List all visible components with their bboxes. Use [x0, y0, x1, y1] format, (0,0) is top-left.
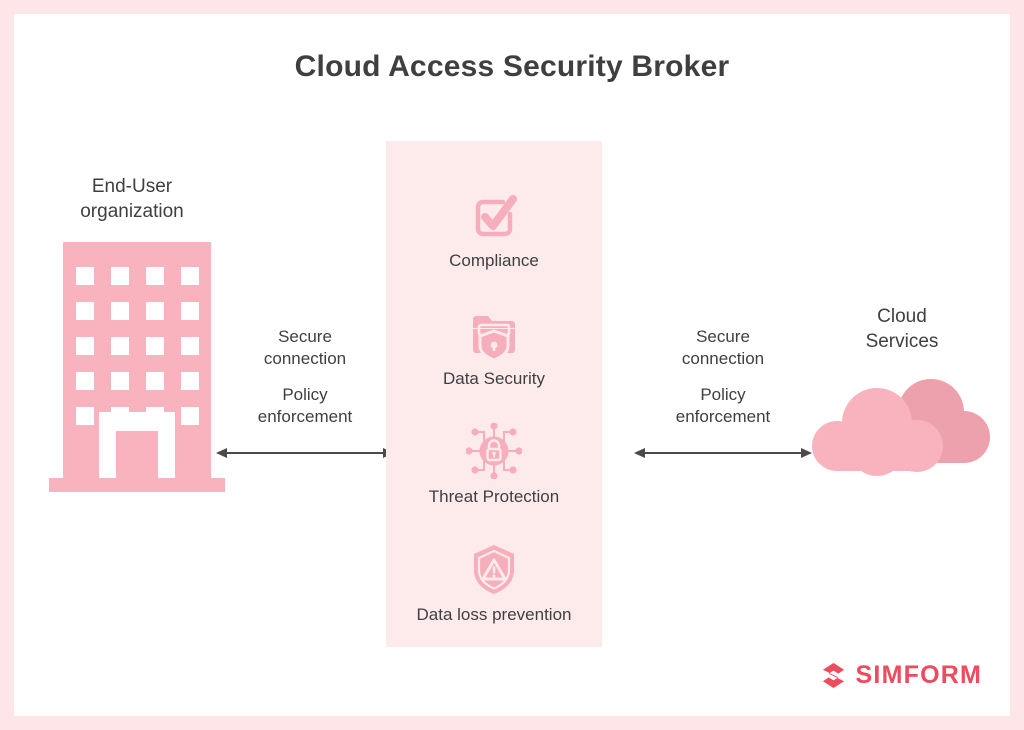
building-window [76, 407, 94, 425]
simform-s-mark-icon [820, 662, 847, 689]
left-connector: Secure connection Policy enforcement [212, 326, 398, 464]
simform-logo-text: SIMFORM [856, 661, 982, 690]
cloud-icon [807, 368, 997, 483]
building-window [111, 302, 129, 320]
building-window [76, 267, 94, 285]
building-window [111, 372, 129, 390]
simform-logo: SIMFORM [820, 661, 982, 690]
right-connector-line-2: connection [630, 348, 816, 370]
feature-data-security-label: Data Security [443, 369, 545, 389]
left-connector-line-1: Secure [212, 326, 398, 348]
left-connector-line-2: connection [212, 348, 398, 370]
feature-data-loss-prevention: Data loss prevention [386, 541, 602, 625]
right-arrow-container [630, 442, 816, 464]
building-window [181, 407, 199, 425]
left-connector-line-4: enforcement [212, 406, 398, 428]
feature-threat-protection-label: Threat Protection [429, 487, 559, 507]
building-window [181, 372, 199, 390]
end-user-label-line-2: organization [32, 199, 232, 224]
network-lock-icon [466, 423, 522, 479]
left-connector-line-3: Policy [212, 384, 398, 406]
right-connector-line-4: enforcement [630, 406, 816, 428]
double-headed-arrow-icon [212, 442, 398, 464]
feature-data-security: Data Security [386, 305, 602, 389]
building-window [111, 337, 129, 355]
building-door-arch [116, 431, 158, 478]
building-base [49, 478, 225, 492]
cloud-label-line-2: Services [794, 329, 1010, 354]
page-title: Cloud Access Security Broker [14, 50, 1010, 84]
folder-shield-lock-icon [466, 305, 522, 361]
checkbox-check-icon [466, 187, 522, 243]
left-connector-gap [212, 370, 398, 384]
diagram-canvas: Cloud Access Security Broker End-User or… [14, 14, 1010, 716]
right-connector-line-3: Policy [630, 384, 816, 406]
building-window [76, 302, 94, 320]
right-connector-gap [630, 370, 816, 384]
end-user-label-line-1: End-User [32, 174, 232, 199]
right-connector-line-1: Secure [630, 326, 816, 348]
casb-features-panel: Compliance Data Security [386, 141, 602, 647]
feature-data-loss-prevention-label: Data loss prevention [417, 605, 572, 625]
left-arrow-container [212, 442, 398, 464]
feature-compliance: Compliance [386, 187, 602, 271]
feature-threat-protection: Threat Protection [386, 423, 602, 507]
double-headed-arrow-icon [630, 442, 816, 464]
building-window [111, 267, 129, 285]
building-window [181, 302, 199, 320]
building-window [146, 302, 164, 320]
building-window [146, 372, 164, 390]
cloud-label-line-1: Cloud [794, 304, 1010, 329]
feature-compliance-label: Compliance [449, 251, 539, 271]
building-window [76, 337, 94, 355]
building-window [76, 372, 94, 390]
end-user-organization-label: End-User organization [32, 174, 232, 224]
building-window [146, 267, 164, 285]
building-window [181, 267, 199, 285]
cloud-services-label: Cloud Services [794, 304, 1010, 354]
shield-warning-icon [466, 541, 522, 597]
cloud-services-group: Cloud Services [794, 304, 1010, 483]
building-windows [76, 267, 200, 425]
right-connector: Secure connection Policy enforcement [630, 326, 816, 464]
office-building-icon [49, 242, 227, 492]
building-window [146, 337, 164, 355]
building-window [181, 337, 199, 355]
